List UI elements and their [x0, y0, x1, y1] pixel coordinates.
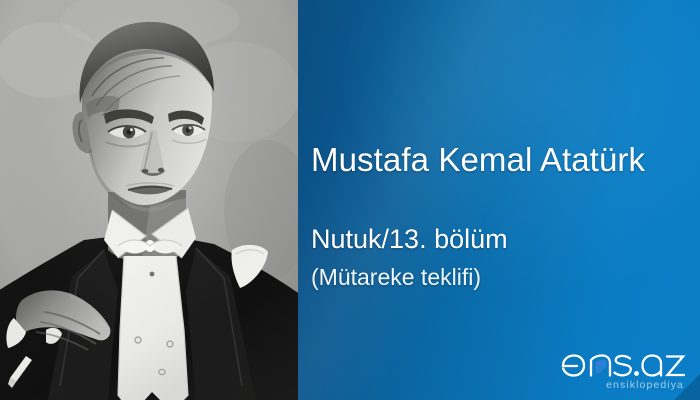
logo-accent-shape	[596, 360, 607, 374]
portrait-photo	[0, 0, 298, 400]
chapter-subtitle: (Mütareke teklifi)	[311, 262, 481, 292]
logo-tagline: ensiklopediya	[606, 379, 684, 391]
logo-mark: ensiklopediya	[558, 346, 686, 392]
portrait-illustration	[0, 0, 298, 400]
article-banner: Mustafa Kemal Atatürk Nutuk/13. bölüm (M…	[0, 0, 700, 400]
chapter-title: Nutuk/13. bölüm	[311, 222, 508, 256]
text-block: Mustafa Kemal Atatürk Nutuk/13. bölüm (M…	[311, 0, 700, 400]
ens-az-logo[interactable]: ensiklopediya	[558, 346, 686, 392]
page-title: Mustafa Kemal Atatürk	[311, 140, 645, 180]
logo-dot	[634, 371, 639, 376]
